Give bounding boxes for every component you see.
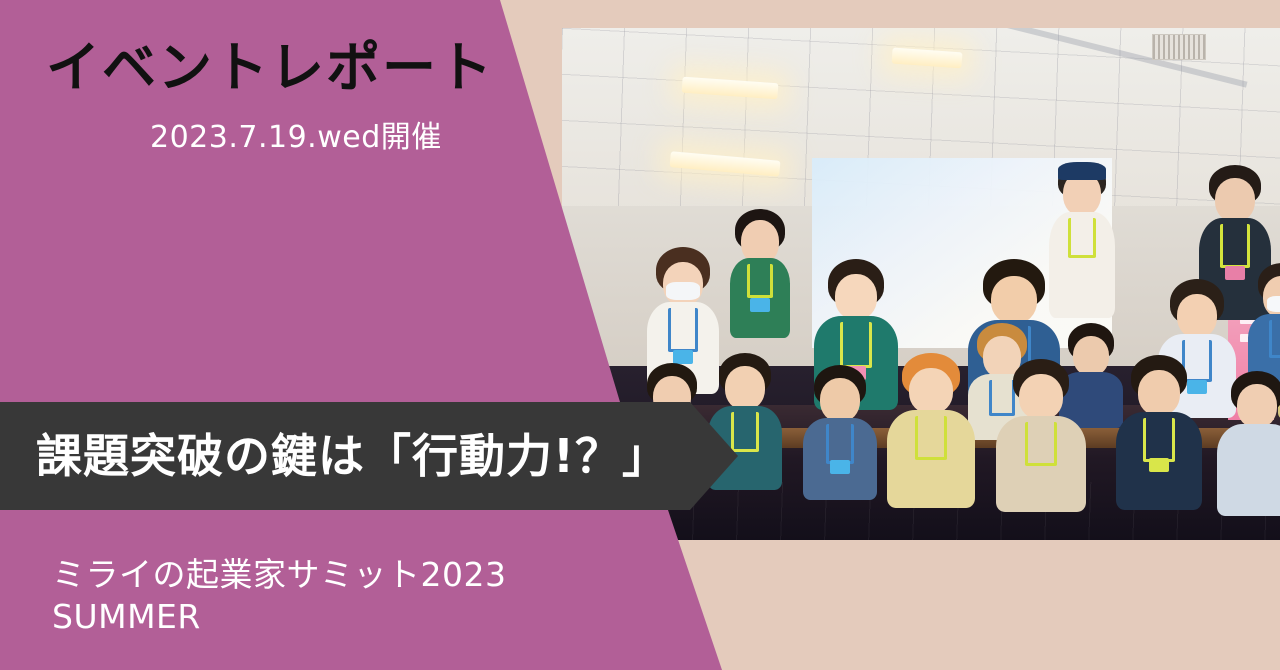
event-date: 2023.7.19.wed開催: [150, 112, 442, 156]
person: [892, 358, 970, 508]
person: [1002, 364, 1080, 512]
headline-text: 課題突破の鍵は「行動力!？」: [36, 433, 669, 479]
ceiling-vent: [1152, 34, 1206, 60]
person: [1052, 168, 1112, 318]
person: [1122, 360, 1196, 510]
event-name-line2: SUMMER: [52, 596, 506, 638]
event-name: ミライの起業家サミット2023 SUMMER: [52, 554, 506, 638]
headline-banner: 課題突破の鍵は「行動力!？」: [0, 402, 740, 510]
person: [732, 214, 788, 334]
event-name-line1: ミライの起業家サミット2023: [52, 554, 506, 596]
person: [807, 370, 873, 500]
person: [1222, 376, 1280, 516]
event-report-banner: イベントレポート 2023.7.19.wed開催 課題突破の鍵は「行動力!？」 …: [0, 0, 1280, 670]
person: [1252, 268, 1280, 388]
page-title: イベントレポート: [46, 40, 494, 97]
